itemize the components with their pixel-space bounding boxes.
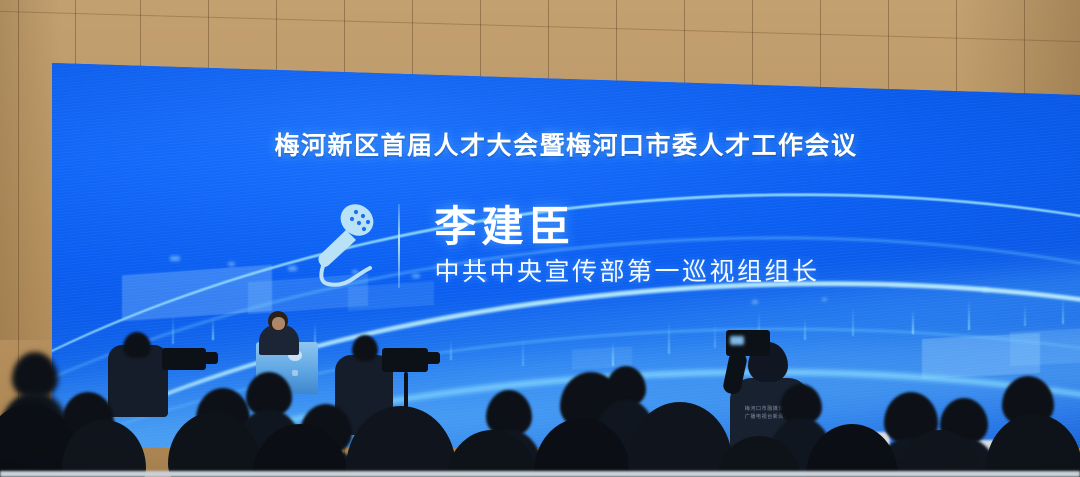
speaker-identity-block: 李建臣 中共中央宣传部第一巡视组组长: [52, 198, 1080, 294]
meeting-title: 梅河新区首届人才大会暨梅河口市委人才工作会议: [52, 126, 1080, 162]
vertical-divider: [398, 204, 400, 288]
wall-shadow-left: [0, 0, 60, 340]
microphone-icon: [312, 198, 378, 294]
wall-seam: [18, 0, 19, 477]
screen-content: 梅河新区首届人才大会暨梅河口市委人才工作会议: [52, 48, 1080, 448]
speaker-name: 李建臣: [434, 205, 819, 249]
led-stage-screen: 梅河新区首届人才大会暨梅河口市委人才工作会议: [52, 48, 1080, 448]
speaker-name-group: 李建臣 中共中央宣传部第一巡视组组长: [434, 205, 819, 286]
wall-seam-horizontal: [0, 11, 1080, 42]
speaker-role: 中共中央宣传部第一巡视组组长: [434, 259, 819, 287]
bottom-light-strip: [0, 471, 1080, 477]
conference-photo: 梅河新区首届人才大会暨梅河口市委人才工作会议: [0, 0, 1080, 477]
